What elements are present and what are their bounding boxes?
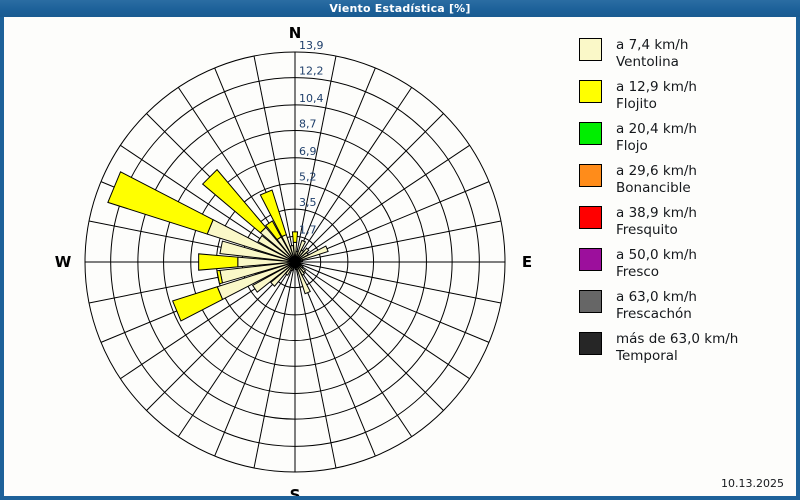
date-stamp: 10.13.2025 [721, 477, 784, 490]
legend-swatch [579, 164, 602, 187]
chart-canvas: 1,73,55,26,98,710,412,213,9NESW a 7,4 km… [4, 17, 796, 496]
compass-label-e: E [522, 253, 532, 271]
legend-speed: a 12,9 km/h [616, 79, 697, 96]
wind-rose-svg: 1,73,55,26,98,710,412,213,9NESW [4, 17, 564, 496]
legend-category: Fresquito [616, 222, 697, 239]
legend-item[interactable]: más de 63,0 km/hTemporal [579, 331, 794, 365]
legend-label: a 12,9 km/hFlojito [616, 79, 697, 113]
legend-speed: a 63,0 km/h [616, 289, 697, 306]
wind-rose-window: Viento Estadística [%] 1,73,55,26,98,710… [0, 0, 800, 500]
legend: a 7,4 km/hVentolinaa 12,9 km/hFlojitoa 2… [579, 37, 794, 373]
legend-category: Frescachón [616, 306, 697, 323]
legend-swatch [579, 80, 602, 103]
legend-speed: a 50,0 km/h [616, 247, 697, 264]
legend-speed: a 20,4 km/h [616, 121, 697, 138]
legend-item[interactable]: a 63,0 km/hFrescachón [579, 289, 794, 323]
legend-speed: a 38,9 km/h [616, 205, 697, 222]
legend-label: más de 63,0 km/hTemporal [616, 331, 738, 365]
legend-swatch [579, 332, 602, 355]
legend-category: Flojito [616, 96, 697, 113]
legend-speed: a 29,6 km/h [616, 163, 697, 180]
radial-tick-label: 8,7 [299, 118, 317, 131]
rose-petal [199, 254, 238, 270]
legend-category: Temporal [616, 348, 738, 365]
legend-item[interactable]: a 20,4 km/hFlojo [579, 121, 794, 155]
radial-tick-label: 13,9 [299, 39, 324, 52]
radial-tick-label: 12,2 [299, 65, 324, 78]
legend-label: a 29,6 km/hBonancible [616, 163, 697, 197]
legend-swatch [579, 248, 602, 271]
legend-category: Flojo [616, 138, 697, 155]
legend-swatch [579, 206, 602, 229]
legend-item[interactable]: a 50,0 km/hFresco [579, 247, 794, 281]
wind-rose-plot: 1,73,55,26,98,710,412,213,9NESW [4, 17, 564, 496]
rose-petal [292, 232, 297, 243]
radial-tick-label: 5,2 [299, 170, 317, 183]
legend-item[interactable]: a 29,6 km/hBonancible [579, 163, 794, 197]
legend-speed: a 7,4 km/h [616, 37, 688, 54]
legend-swatch [579, 290, 602, 313]
radial-tick-label: 1,7 [299, 223, 317, 236]
compass-label-n: N [289, 24, 302, 42]
compass-label-s: S [290, 486, 301, 496]
grid-spoke [295, 262, 489, 342]
radial-tick-label: 3,5 [299, 196, 317, 209]
legend-label: a 38,9 km/hFresquito [616, 205, 697, 239]
grid-spoke [295, 114, 443, 262]
legend-label: a 20,4 km/hFlojo [616, 121, 697, 155]
legend-category: Ventolina [616, 54, 688, 71]
legend-swatch [579, 122, 602, 145]
compass-label-w: W [55, 253, 72, 271]
legend-speed: más de 63,0 km/h [616, 331, 738, 348]
legend-label: a 63,0 km/hFrescachón [616, 289, 697, 323]
window-title-bar: Viento Estadística [%] [0, 0, 800, 17]
grid-spoke [295, 262, 443, 410]
legend-label: a 50,0 km/hFresco [616, 247, 697, 281]
legend-swatch [579, 38, 602, 61]
legend-label: a 7,4 km/hVentolina [616, 37, 688, 71]
window-title: Viento Estadística [%] [329, 2, 470, 15]
legend-item[interactable]: a 7,4 km/hVentolina [579, 37, 794, 71]
legend-item[interactable]: a 38,9 km/hFresquito [579, 205, 794, 239]
legend-category: Bonancible [616, 180, 697, 197]
radial-tick-label: 10,4 [299, 92, 324, 105]
legend-item[interactable]: a 12,9 km/hFlojito [579, 79, 794, 113]
radial-tick-label: 6,9 [299, 145, 317, 158]
legend-category: Fresco [616, 264, 697, 281]
